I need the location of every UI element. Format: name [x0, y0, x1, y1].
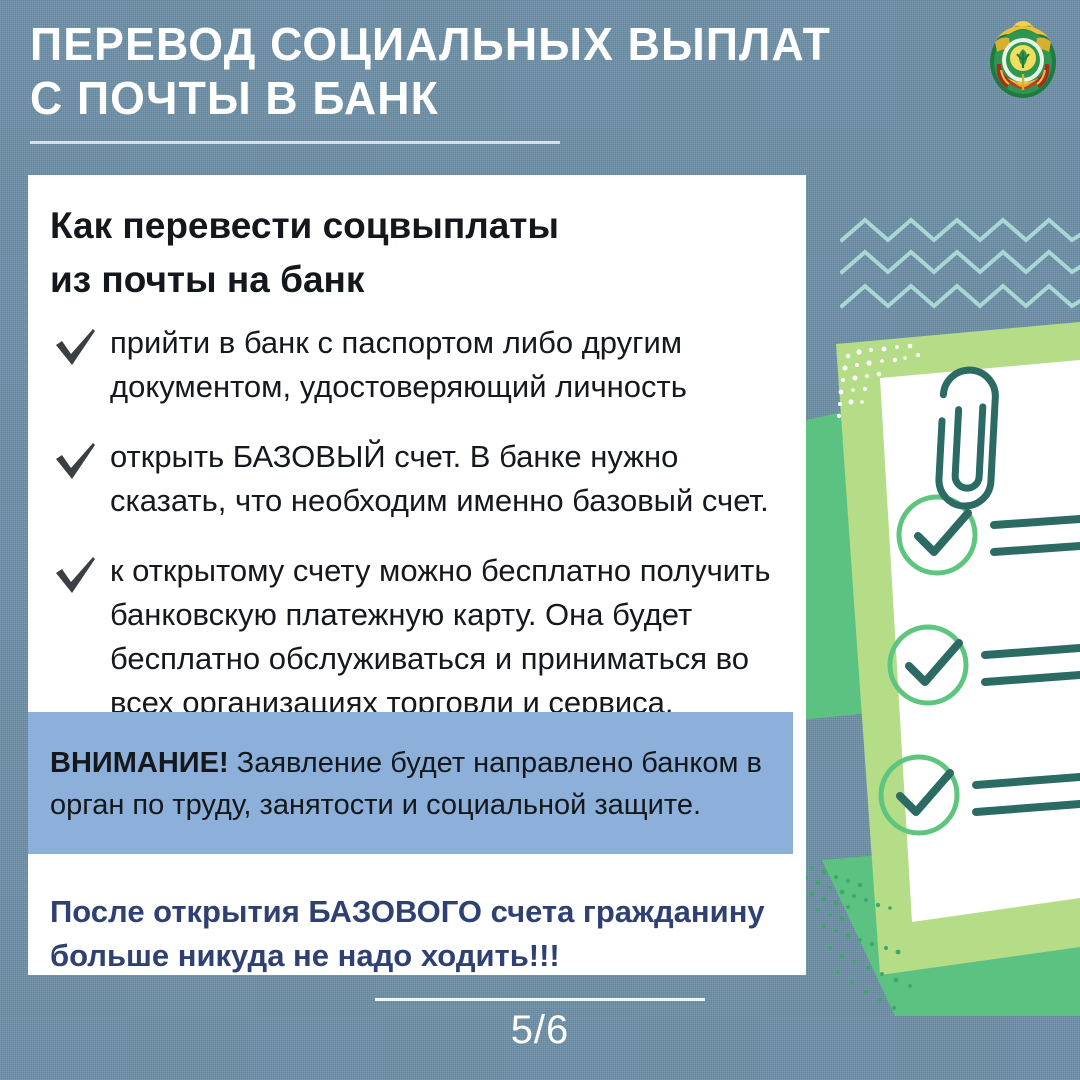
poster-header: ПЕРЕВОД СОЦИАЛЬНЫХ ВЫПЛАТ С ПОЧТЫ В БАНК — [30, 18, 930, 126]
belarus-ministry-emblem-icon — [985, 16, 1061, 100]
attention-text: ВНИМАНИЕ! Заявление будет направлено бан… — [50, 743, 793, 827]
list-item: к открытому счету можно бесплатно получи… — [50, 549, 788, 725]
checkmark-icon — [52, 551, 98, 597]
header-divider — [30, 141, 560, 144]
checkmark-icon — [52, 437, 98, 483]
page-number: 5/6 — [0, 1008, 1080, 1053]
list-item: прийти в банк с паспортом либо другим до… — [50, 321, 788, 409]
attention-banner: ВНИМАНИЕ! Заявление будет направлено бан… — [28, 712, 793, 854]
list-item-label: к открытому счету можно бесплатно получи… — [110, 553, 770, 720]
list-item-label: открыть БАЗОВЫЙ счет. В банке нужно сказ… — [110, 439, 769, 518]
page-title: ПЕРЕВОД СОЦИАЛЬНЫХ ВЫПЛАТ С ПОЧТЫ В БАНК — [30, 18, 903, 126]
footer-divider — [375, 998, 705, 1001]
content-card: Как перевести соцвыплаты из почты на бан… — [28, 175, 806, 975]
attention-label: ВНИМАНИЕ! — [50, 747, 229, 779]
list-item: открыть БАЗОВЫЙ счет. В банке нужно сказ… — [50, 435, 788, 523]
list-item-label: прийти в банк с паспортом либо другим до… — [110, 325, 687, 404]
card-heading: Как перевести соцвыплаты из почты на бан… — [28, 175, 806, 307]
infographic-poster: ПЕРЕВОД СОЦИАЛЬНЫХ ВЫПЛАТ С ПОЧТЫ В БАНК… — [0, 0, 1080, 1080]
checkmark-icon — [52, 323, 98, 369]
closing-message: После открытия БАЗОВОГО счета гражданину… — [50, 890, 780, 978]
bullet-list: прийти в банк с паспортом либо другим до… — [28, 307, 806, 725]
